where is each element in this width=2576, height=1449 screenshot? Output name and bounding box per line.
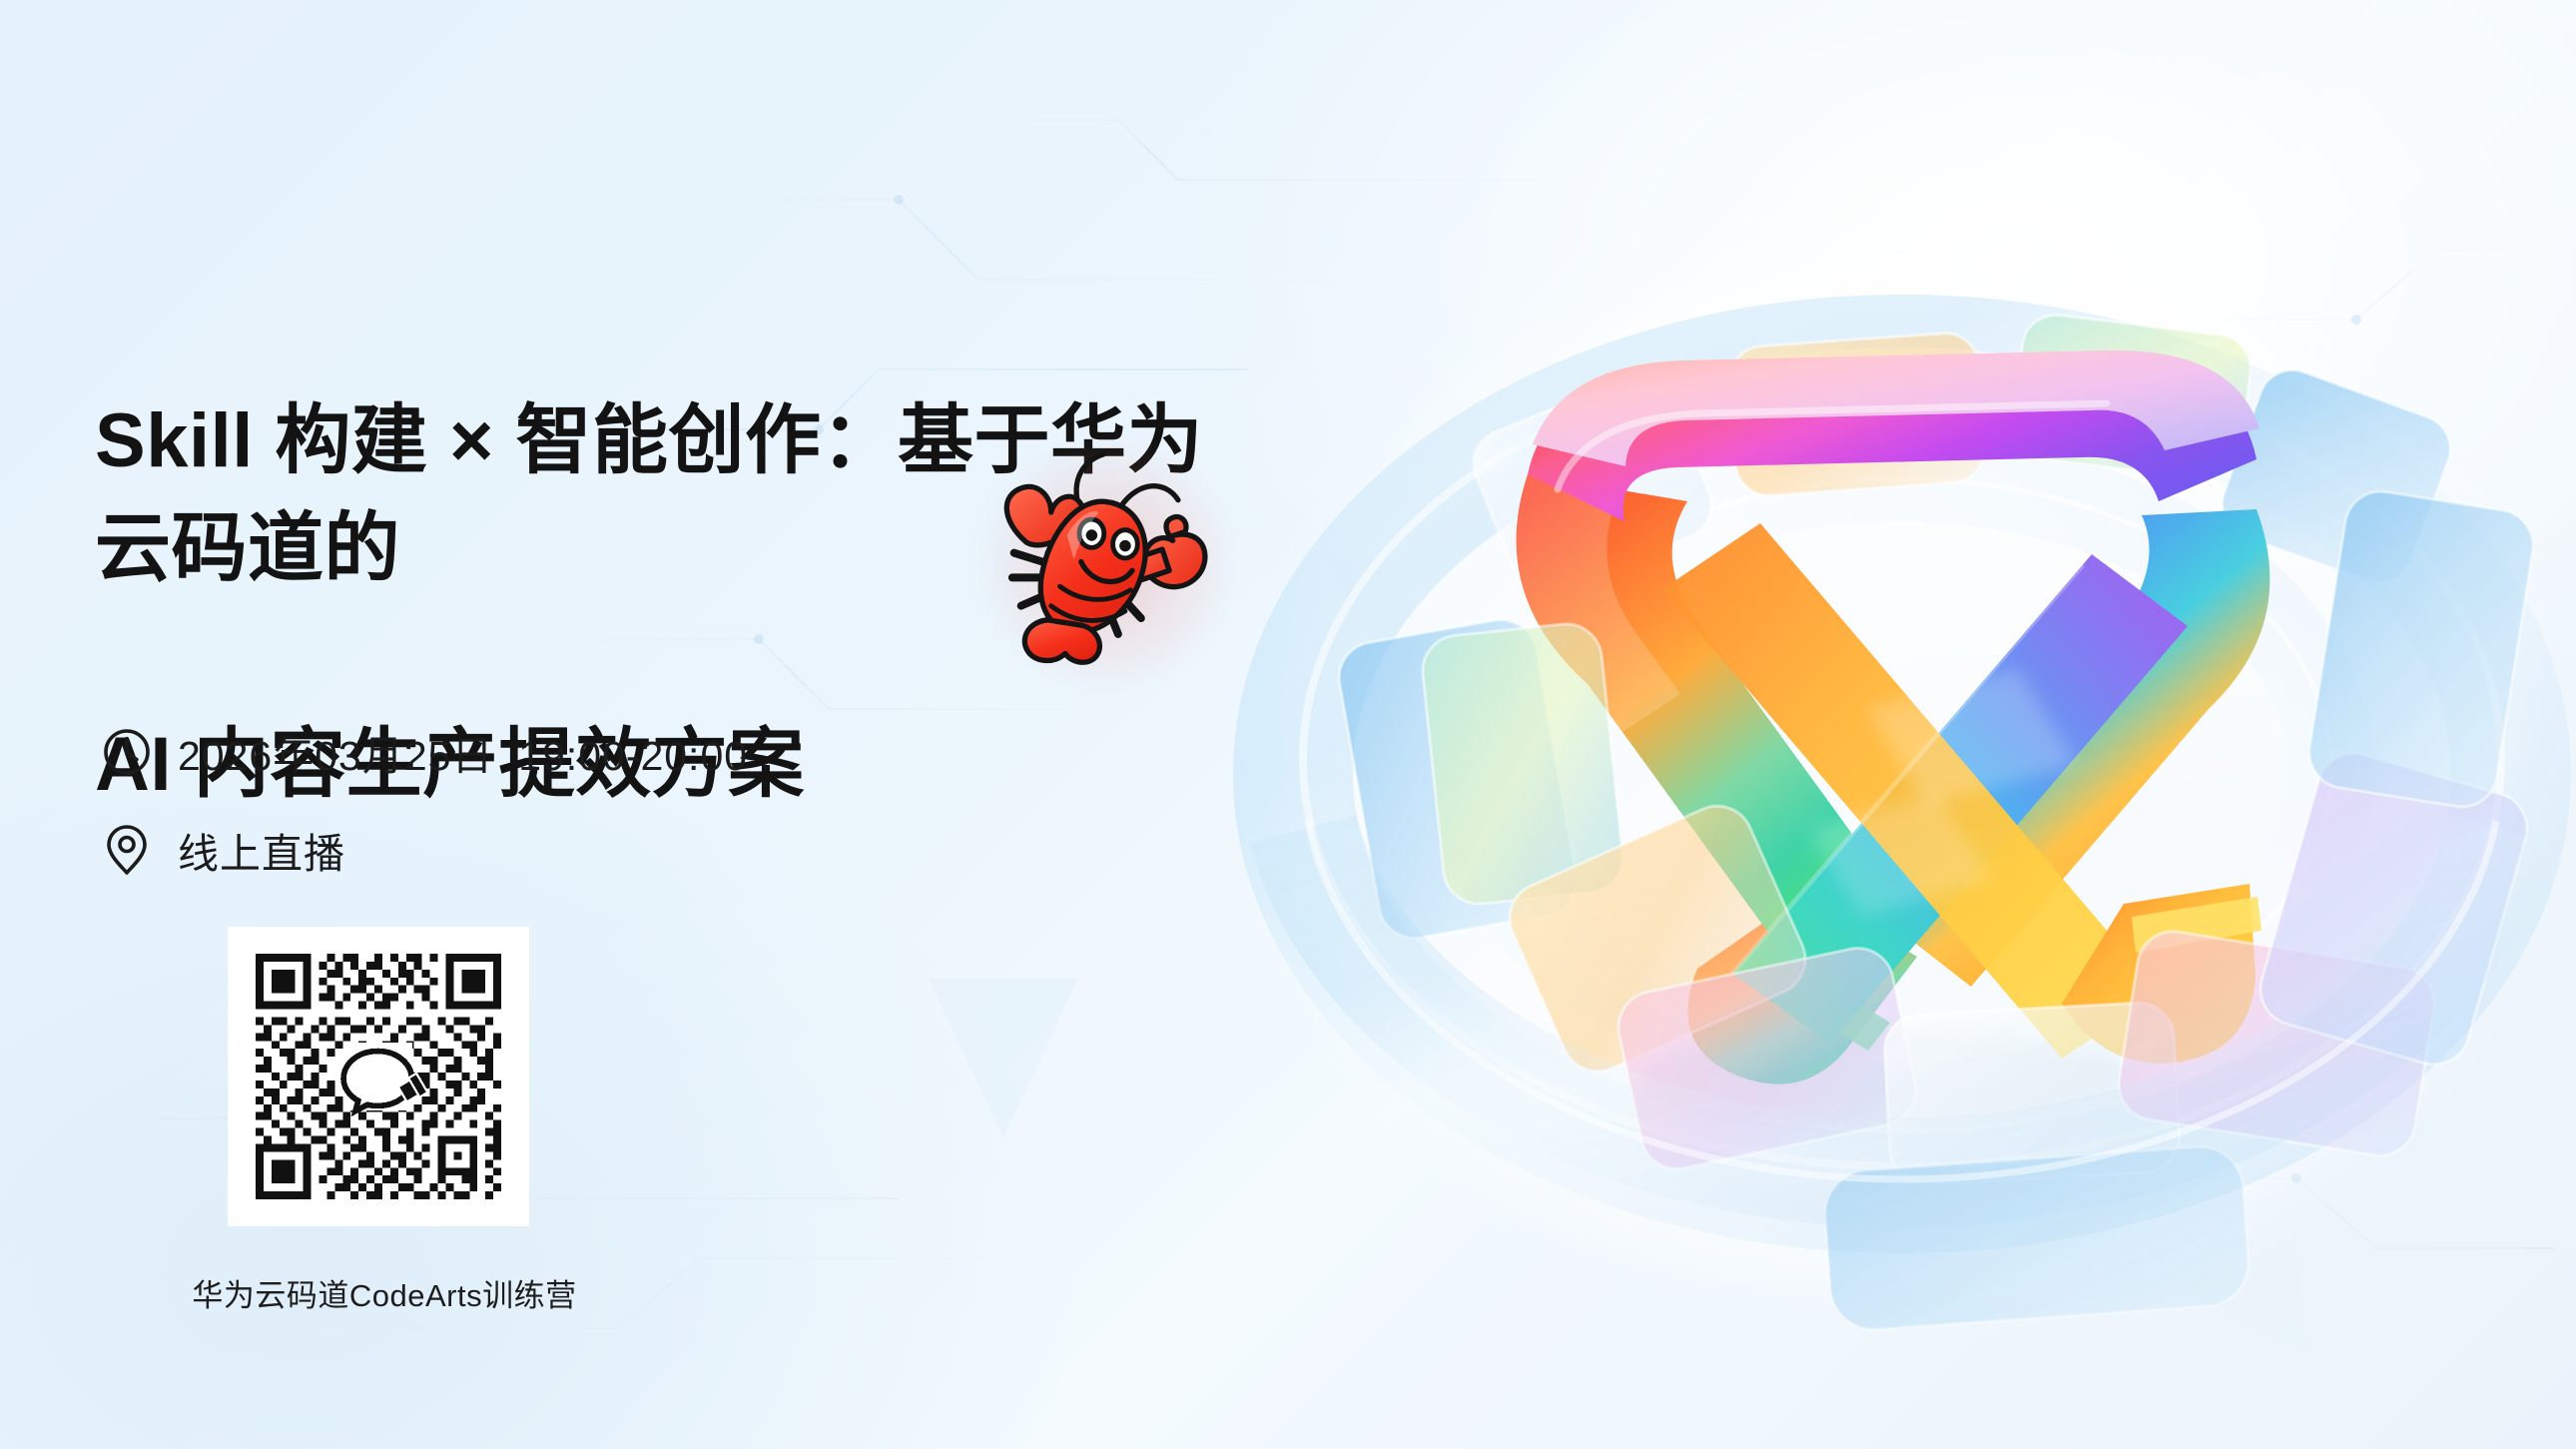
- qr-code-matrix: [248, 946, 509, 1207]
- lobster-mascot: [973, 429, 1238, 694]
- event-time-text: 2026年03月25日 19:00-20:00: [178, 722, 748, 782]
- event-location-text: 线上直播: [178, 820, 345, 880]
- event-location-row: 线上直播: [98, 813, 748, 887]
- poster-canvas: Skill 构建 × 智能创作：基于华为云码道的 AI 内容生产提效方案 202…: [0, 0, 2576, 1449]
- event-time-row: 2026年03月25日 19:00-20:00: [98, 715, 748, 789]
- qr-caption: 华为云码道CodeArts训练营: [150, 1270, 619, 1315]
- map-pin-icon: [98, 821, 156, 879]
- clock-icon: [98, 723, 156, 781]
- event-meta: 2026年03月25日 19:00-20:00 线上直播: [98, 715, 748, 887]
- hero-artwork-3d-ribbon: [1228, 70, 2576, 1398]
- qr-code[interactable]: [228, 927, 529, 1226]
